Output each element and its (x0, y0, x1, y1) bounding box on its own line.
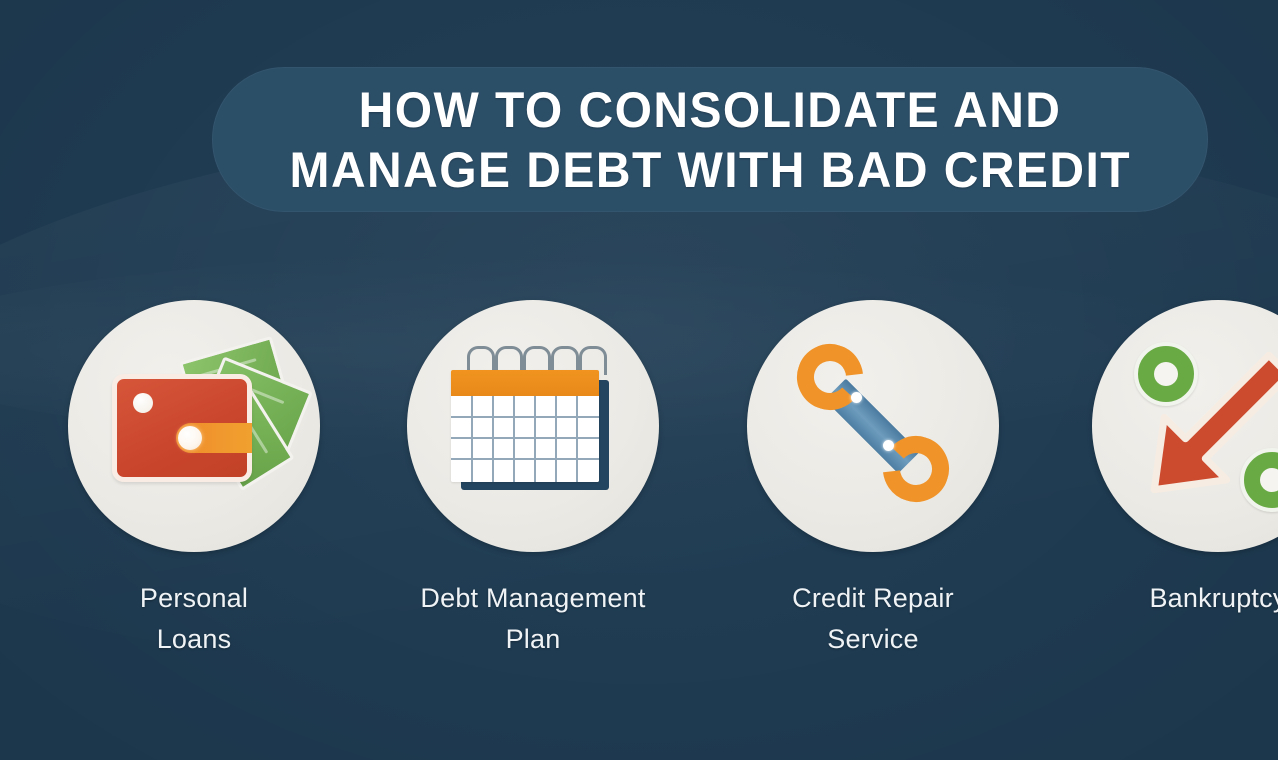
wallet-money-icon (68, 300, 320, 552)
option-label-line-1: Credit Repair (747, 578, 999, 619)
option-label: Personal Loans (68, 578, 320, 660)
wallet-strap-icon (176, 423, 252, 453)
arrow-down-left-icon (1122, 330, 1278, 522)
calendar-grid (451, 396, 599, 482)
wallet-stud-icon (133, 393, 153, 413)
option-debt-management-plan[interactable]: Debt Management Plan (407, 300, 659, 660)
options-row: Personal Loans (0, 300, 1278, 680)
calendar-header-bar (451, 370, 599, 396)
title-line-1: HOW TO CONSOLIDATE AND (359, 81, 1062, 139)
calendar-body (451, 370, 599, 482)
icon-circle (68, 300, 320, 552)
option-label-line-1: Debt Management (407, 578, 659, 619)
icon-circle (407, 300, 659, 552)
option-label: Debt Management Plan (407, 578, 659, 660)
option-label-line-2: Service (747, 619, 999, 660)
wrench-icon (747, 300, 999, 552)
title-panel: HOW TO CONSOLIDATE AND MANAGE DEBT WITH … (212, 67, 1208, 212)
page-title: HOW TO CONSOLIDATE AND MANAGE DEBT WITH … (212, 67, 1208, 212)
icon-circle (1092, 300, 1278, 552)
option-label-line-2: Plan (407, 619, 659, 660)
infographic-canvas: HOW TO CONSOLIDATE AND MANAGE DEBT WITH … (0, 0, 1278, 760)
option-label-line-1: Bankruptcy (1092, 578, 1278, 619)
wrench-highlight-dot (851, 392, 862, 403)
wallet-icon (112, 374, 252, 482)
wrench-highlight-dot (883, 440, 894, 451)
wallet-clasp-icon (178, 426, 202, 450)
calendar-icon (407, 300, 659, 552)
option-label: Credit Repair Service (747, 578, 999, 660)
option-label-line-1: Personal (68, 578, 320, 619)
option-personal-loans[interactable]: Personal Loans (68, 300, 320, 660)
percent-arrow-down-icon (1092, 300, 1278, 552)
title-line-2: MANAGE DEBT WITH BAD CREDIT (289, 141, 1131, 199)
option-credit-repair-service[interactable]: Credit Repair Service (747, 300, 999, 660)
option-label-line-2: Loans (68, 619, 320, 660)
option-bankruptcy[interactable]: Bankruptcy (1092, 300, 1278, 619)
icon-circle (747, 300, 999, 552)
option-label: Bankruptcy (1092, 578, 1278, 619)
